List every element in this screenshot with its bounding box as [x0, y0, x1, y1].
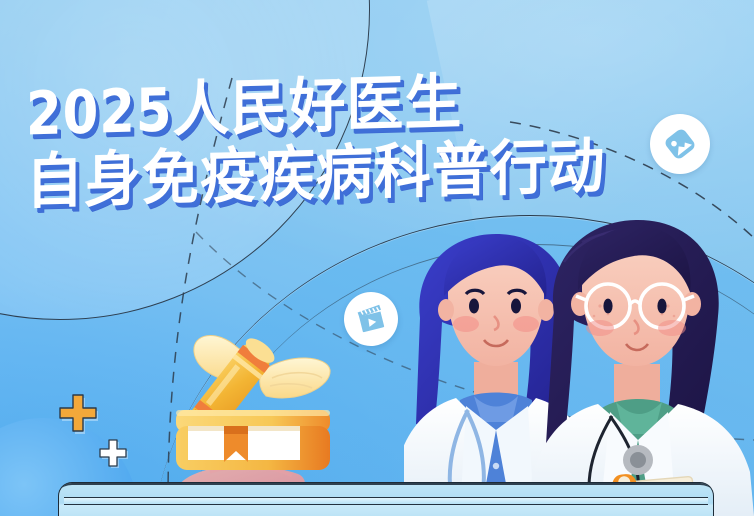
- plus-orange: [58, 392, 100, 434]
- promo-banner: 2025人民好医生 自身免疫疾病科普行动: [0, 0, 754, 516]
- doctor-right: [528, 220, 754, 516]
- two-doctors-illustration: [404, 214, 754, 516]
- plus-white: [98, 438, 130, 470]
- title-line-2: 自身免疫疾病科普行动: [26, 138, 606, 212]
- poster-title: 2025人民好医生 自身免疫疾病科普行动: [26, 69, 636, 211]
- front-desk-edge: [64, 497, 708, 505]
- closed-book-with-bookmark: [176, 410, 330, 470]
- photo-image-icon: [662, 126, 698, 162]
- photo-image-bubble[interactable]: [650, 114, 710, 174]
- video-clapperboard-icon: [353, 301, 389, 337]
